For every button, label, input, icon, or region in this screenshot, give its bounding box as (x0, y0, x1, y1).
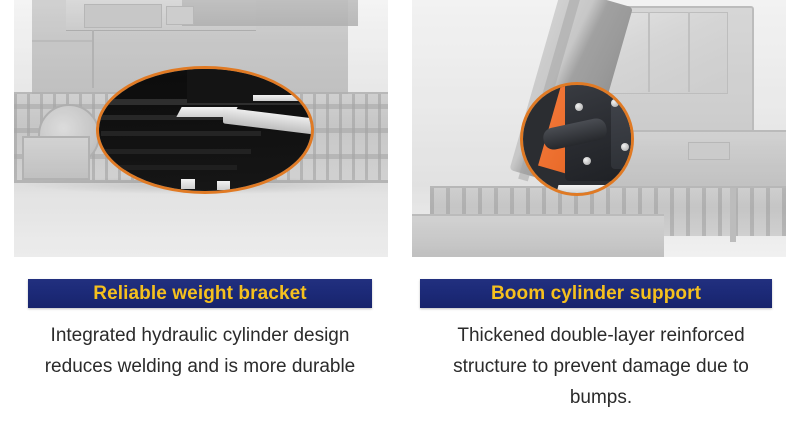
highlight-ellipse-weight-bracket (96, 66, 314, 194)
feature-comparison-page: Reliable weight bracket Integrated hydra… (0, 0, 800, 441)
feature-description-left: Integrated hydraulic cylinder design red… (30, 320, 370, 382)
feature-title-banner-right: Boom cylinder support (420, 279, 772, 308)
feature-grid: Reliable weight bracket Integrated hydra… (0, 0, 800, 441)
feature-description-right: Thickened double-layer reinforced struct… (426, 320, 776, 413)
feature-photo-left (14, 0, 388, 257)
feature-title-banner-left: Reliable weight bracket (28, 279, 372, 308)
photo-stage-left (14, 0, 388, 257)
highlight-circle-boom-cylinder (520, 82, 634, 196)
feature-card-boom-cylinder-support: Boom cylinder support Thickened double-l… (400, 0, 800, 441)
photo-stage-right (412, 0, 786, 257)
feature-title-right: Boom cylinder support (491, 283, 701, 305)
feature-title-left: Reliable weight bracket (93, 283, 306, 305)
feature-photo-right (412, 0, 786, 257)
feature-card-reliable-weight-bracket: Reliable weight bracket Integrated hydra… (0, 0, 400, 441)
